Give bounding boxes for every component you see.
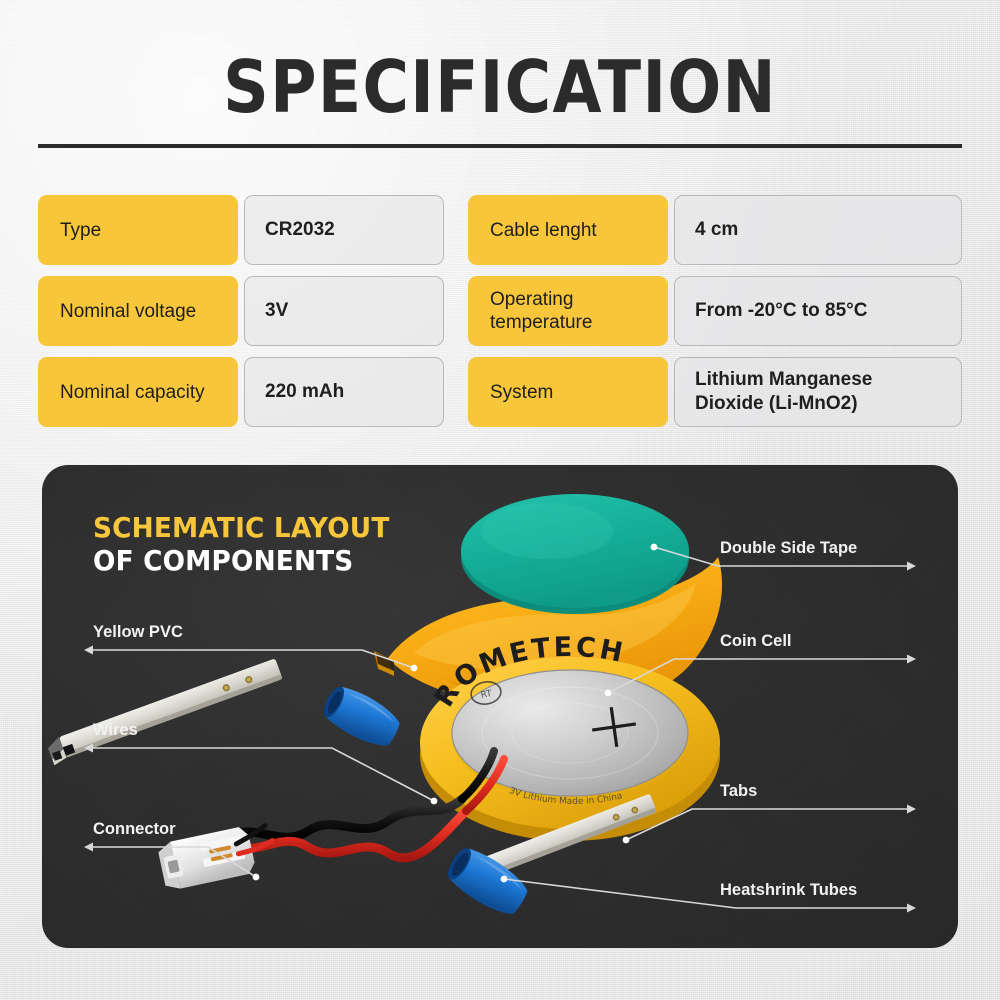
schematic-heading-line1: SCHEMATIC LAYOUT — [93, 511, 389, 544]
spec-value-type: CR2032 — [244, 195, 444, 265]
callout-label-coin-cell: Coin Cell — [720, 631, 792, 651]
specification-infographic: SPECIFICATION Type CR2032 Cable lenght 4… — [0, 0, 1000, 1000]
spec-value-nominal-voltage: 3V — [244, 276, 444, 346]
column-gap — [444, 276, 468, 346]
callout-label-heatshrink-tubes: Heatshrink Tubes — [720, 880, 857, 900]
leader-connector — [92, 847, 256, 877]
callout-label-yellow-pvc: Yellow PVC — [93, 622, 183, 642]
page-title: SPECIFICATION — [60, 48, 940, 126]
leader-wires — [92, 748, 434, 801]
leader-tabs — [626, 809, 908, 840]
schematic-heading: SCHEMATIC LAYOUT OF COMPONENTS — [93, 511, 389, 577]
spec-label-system: System — [468, 357, 668, 427]
spec-label-operating-temperature: Operating temperature — [468, 276, 668, 346]
callout-label-wires: Wires — [93, 720, 138, 740]
callout-label-double-side-tape: Double Side Tape — [720, 538, 857, 558]
column-gap — [444, 357, 468, 427]
title-divider — [38, 144, 962, 148]
schematic-panel: SCHEMATIC LAYOUT OF COMPONENTS — [42, 465, 958, 948]
spec-value-system: Lithium Manganese Dioxide (Li-MnO2) — [674, 357, 962, 427]
spec-label-nominal-voltage: Nominal voltage — [38, 276, 238, 346]
column-gap — [444, 195, 468, 265]
spec-value-operating-temperature: From -20°C to 85°C — [674, 276, 962, 346]
spec-label-type: Type — [38, 195, 238, 265]
spec-label-nominal-capacity: Nominal capacity — [38, 357, 238, 427]
leader-coin-cell — [608, 659, 908, 693]
leader-yellow-pvc — [92, 650, 414, 668]
schematic-heading-line2: OF COMPONENTS — [93, 544, 389, 577]
callout-label-tabs: Tabs — [720, 781, 757, 801]
specification-table: Type CR2032 Cable lenght 4 cm Nominal vo… — [38, 195, 962, 427]
spec-value-nominal-capacity: 220 mAh — [244, 357, 444, 427]
spec-value-cable-length: 4 cm — [674, 195, 962, 265]
callout-label-connector: Connector — [93, 819, 176, 839]
spec-label-cable-length: Cable lenght — [468, 195, 668, 265]
